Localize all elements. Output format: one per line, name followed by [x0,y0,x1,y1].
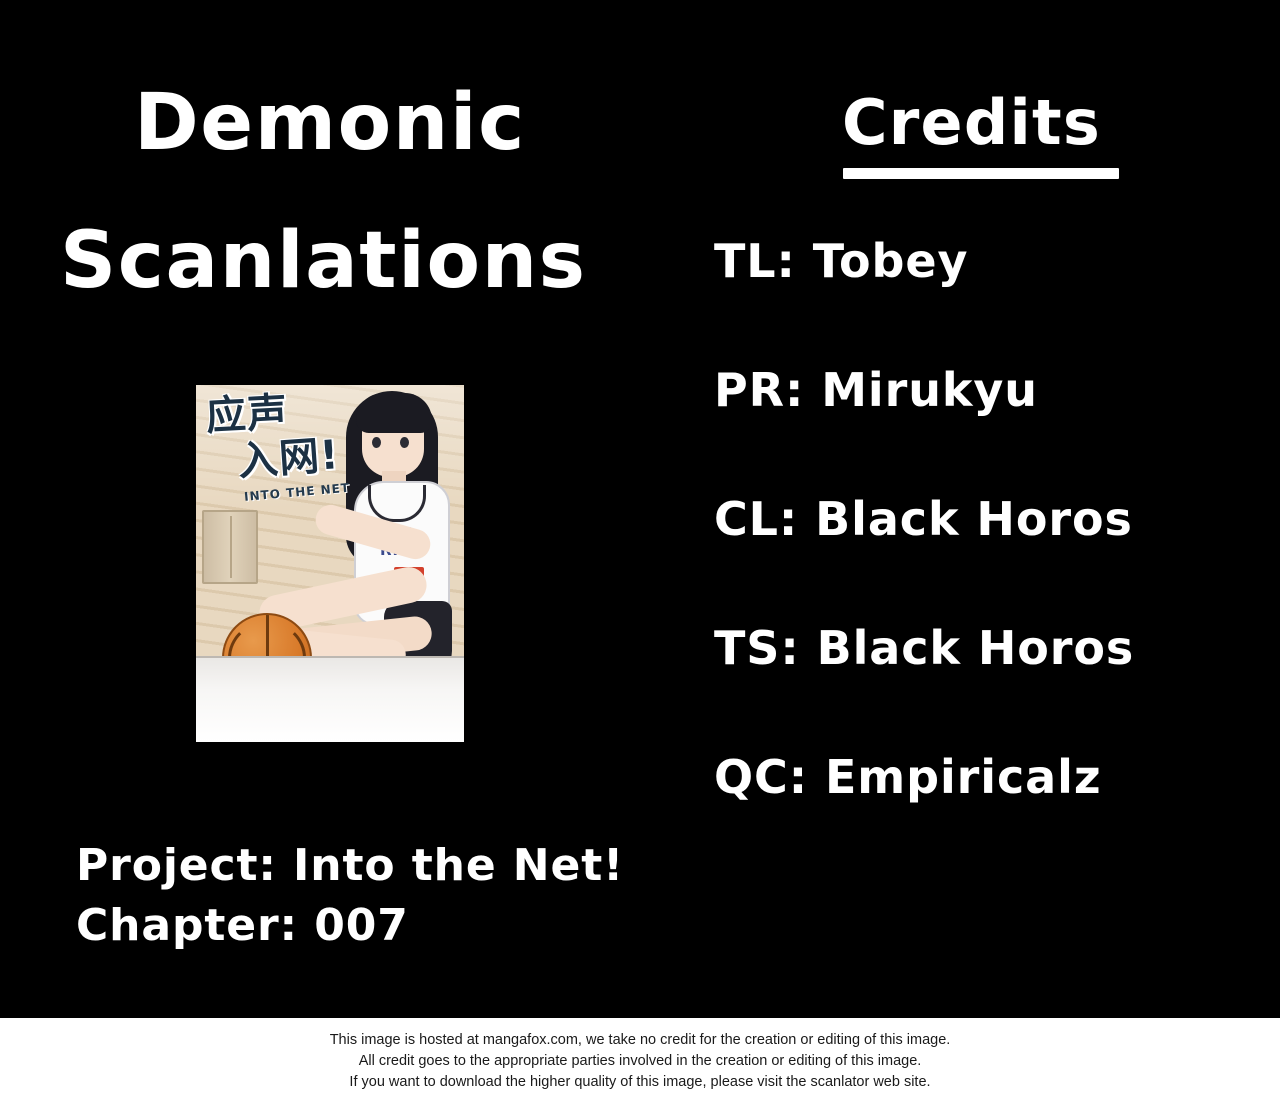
credits-heading-underline [843,168,1119,179]
cover-title-latin: INTO THE NET [244,480,357,504]
footer-line-1: This image is hosted at mangafox.com, we… [0,1030,1280,1051]
cover-title-cjk-line-2: 入网! [237,433,358,483]
character-eye-right [400,437,409,448]
character-bangs [356,393,432,433]
credits-heading: Credits [842,88,1101,158]
cover-title-cjk-line-1: 应声 [205,389,357,437]
group-title-line-1: Demonic [50,78,650,168]
credit-row-ts: TS: Black Horos [714,619,1234,748]
cover-floor [196,656,464,742]
footer-line-3: If you want to download the higher quali… [0,1072,1280,1093]
project-label: Project: Into the Net! [76,836,624,896]
footer-line-2: All credit goes to the appropriate parti… [0,1051,1280,1072]
credits-page: Demonic Scanlations MID RISE [0,0,1280,1094]
project-info: Project: Into the Net! Chapter: 007 [76,836,624,956]
cover-title: 应声 入网! INTO THE NET [206,393,356,499]
credit-row-tl: TL: Tobey [714,232,1234,361]
credit-row-pr: PR: Mirukyu [714,361,1234,490]
cover-thumbnail: MID RISE 应声 入网! INTO THE NET [196,385,464,742]
cover-artwork: MID RISE 应声 入网! INTO THE NET [196,385,464,742]
character-eye-left [372,437,381,448]
credit-row-qc: QC: Empiricalz [714,748,1234,877]
group-title-line-2: Scanlations [50,216,650,306]
group-title: Demonic Scanlations [50,78,650,306]
chapter-label: Chapter: 007 [76,896,624,956]
cover-lockers [202,510,258,584]
credit-row-cl: CL: Black Horos [714,490,1234,619]
footer-disclaimer: This image is hosted at mangafox.com, we… [0,1018,1280,1094]
credits-list: TL: Tobey PR: Mirukyu CL: Black Horos TS… [714,232,1234,877]
